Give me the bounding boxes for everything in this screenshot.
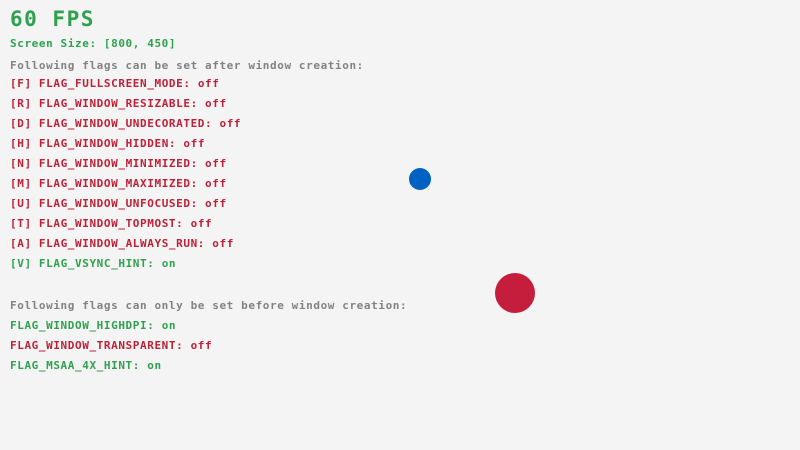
red-ball[interactable] [495,273,535,313]
flag-row[interactable]: [T] FLAG_WINDOW_TOPMOST: off [10,218,212,230]
flag-value: off [183,137,205,150]
flag-key: [R] [10,97,32,110]
flag-name: FLAG_WINDOW_TRANSPARENT: [10,339,183,352]
flag-name: FLAG_WINDOW_MINIMIZED: [39,157,198,170]
flag-row: FLAG_MSAA_4X_HINT: on [10,360,162,372]
flag-value: off [205,197,227,210]
flag-value: off [212,237,234,250]
flag-row: FLAG_WINDOW_TRANSPARENT: off [10,340,212,352]
flag-name: FLAG_WINDOW_HIGHDPI: [10,319,154,332]
flag-name: FLAG_WINDOW_HIDDEN: [39,137,176,150]
flag-row[interactable]: [N] FLAG_WINDOW_MINIMIZED: off [10,158,227,170]
flag-value: off [205,157,227,170]
flag-row[interactable]: [H] FLAG_WINDOW_HIDDEN: off [10,138,205,150]
flag-name: FLAG_WINDOW_TOPMOST: [39,217,183,230]
creation-flags-header: Following flags can only be set before w… [10,300,407,312]
flag-key: [D] [10,117,32,130]
flag-row: FLAG_WINDOW_HIGHDPI: on [10,320,176,332]
flag-row[interactable]: [V] FLAG_VSYNC_HINT: on [10,258,176,270]
flag-row[interactable]: [D] FLAG_WINDOW_UNDECORATED: off [10,118,241,130]
flag-name: FLAG_VSYNC_HINT: [39,257,155,270]
flag-name: FLAG_WINDOW_UNDECORATED: [39,117,212,130]
flag-row[interactable]: [A] FLAG_WINDOW_ALWAYS_RUN: off [10,238,234,250]
flag-name: FLAG_WINDOW_ALWAYS_RUN: [39,237,205,250]
flag-row[interactable]: [M] FLAG_WINDOW_MAXIMIZED: off [10,178,227,190]
blue-ball[interactable] [409,168,431,190]
flag-key: [A] [10,237,32,250]
flag-name: FLAG_WINDOW_UNFOCUSED: [39,197,198,210]
flag-key: [H] [10,137,32,150]
flag-value: off [219,117,241,130]
flag-value: on [162,257,176,270]
flag-value: off [205,177,227,190]
fps-counter: 60 FPS [10,8,95,30]
flag-name: FLAG_MSAA_4X_HINT: [10,359,140,372]
flag-value: off [205,97,227,110]
flag-key: [V] [10,257,32,270]
raylib-window: 60 FPS Screen Size: [800, 450] Following… [0,0,800,450]
flag-key: [F] [10,77,32,90]
flag-key: [T] [10,217,32,230]
flag-key: [M] [10,177,32,190]
runtime-flags-header: Following flags can be set after window … [10,60,364,72]
flag-row[interactable]: [R] FLAG_WINDOW_RESIZABLE: off [10,98,227,110]
flag-value: off [191,217,213,230]
flag-value: off [191,339,213,352]
flag-key: [U] [10,197,32,210]
flag-value: on [147,359,161,372]
flag-name: FLAG_WINDOW_RESIZABLE: [39,97,198,110]
flag-name: FLAG_FULLSCREEN_MODE: [39,77,191,90]
flag-name: FLAG_WINDOW_MAXIMIZED: [39,177,198,190]
flag-key: [N] [10,157,32,170]
screen-size-label: Screen Size: [800, 450] [10,38,176,50]
flag-row[interactable]: [U] FLAG_WINDOW_UNFOCUSED: off [10,198,227,210]
flag-value: off [198,77,220,90]
flag-row[interactable]: [F] FLAG_FULLSCREEN_MODE: off [10,78,220,90]
flag-value: on [162,319,176,332]
